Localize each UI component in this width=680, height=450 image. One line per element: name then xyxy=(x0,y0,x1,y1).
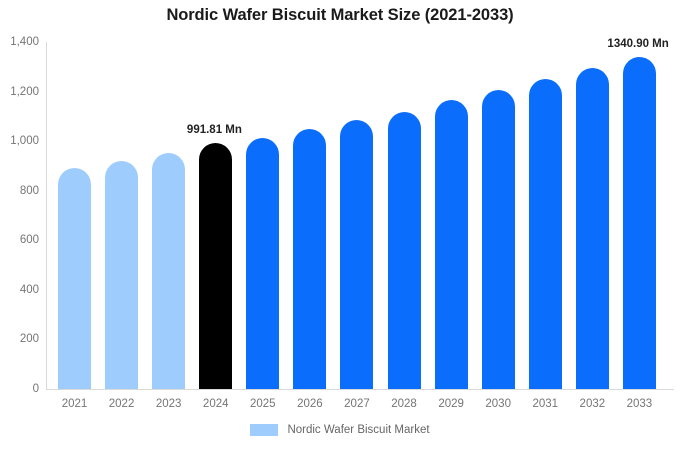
bar-2032[interactable] xyxy=(576,68,609,389)
bar-2033[interactable] xyxy=(623,57,656,389)
legend-swatch-icon xyxy=(250,424,278,436)
bar-2026[interactable] xyxy=(293,129,326,389)
data-label-2024: 991.81 Mn xyxy=(187,124,242,136)
y-axis-tick-label: 1,400 xyxy=(0,36,39,48)
bar-2021[interactable] xyxy=(58,168,91,389)
y-axis-tick-label: 0 xyxy=(0,383,39,395)
y-axis-tick-label: 400 xyxy=(0,284,39,296)
y-axis-tick-label: 800 xyxy=(0,185,39,197)
bar-2031[interactable] xyxy=(529,79,562,389)
y-axis-tick-label: 600 xyxy=(0,234,39,246)
bar-2025[interactable] xyxy=(246,138,279,389)
data-label-2033: 1340.90 Mn xyxy=(607,38,668,50)
y-axis-tick-label: 1,000 xyxy=(0,135,39,147)
y-axis-tick-label: 200 xyxy=(0,333,39,345)
legend: Nordic Wafer Biscuit Market xyxy=(0,424,680,436)
bar-2023[interactable] xyxy=(152,153,185,389)
y-axis-tick-label: 1,200 xyxy=(0,86,39,98)
legend-label: Nordic Wafer Biscuit Market xyxy=(287,424,429,436)
bar-2022[interactable] xyxy=(105,161,138,389)
bar-chart: Nordic Wafer Biscuit Market Size (2021-2… xyxy=(0,0,680,450)
bar-2028[interactable] xyxy=(388,112,421,389)
bar-2030[interactable] xyxy=(482,90,515,389)
bar-2029[interactable] xyxy=(435,100,468,389)
bar-2024[interactable] xyxy=(199,143,232,389)
x-axis-tick-label: 2033 xyxy=(609,398,669,410)
bar-2027[interactable] xyxy=(340,120,373,389)
plot-area xyxy=(46,42,674,389)
